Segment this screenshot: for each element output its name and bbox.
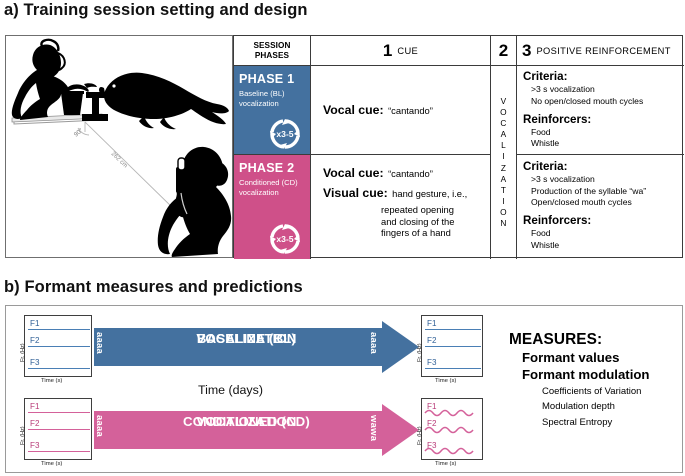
phase-1-subtitle-1: Baseline (BL) bbox=[239, 89, 310, 99]
spectrogram-ylabel: Fr. (Hz) bbox=[20, 343, 26, 362]
formant-line-f3 bbox=[425, 368, 481, 369]
formant-label-f1: F1 bbox=[427, 402, 436, 411]
phase-2-cue-cell: Vocal cue: “cantando” Visual cue: hand g… bbox=[311, 155, 491, 259]
baseline-syllable-end: aaaa bbox=[369, 332, 380, 354]
phase-2-reinforcer-item: Whistle bbox=[531, 240, 684, 251]
phase-2-subtitle-1: Conditioned (CD) bbox=[239, 178, 310, 188]
illustration-svg: 90° 262 cm bbox=[6, 36, 232, 257]
spectrogram-xlabel: Time (s) bbox=[41, 378, 62, 384]
header-phases-line1: SESSION bbox=[253, 41, 290, 50]
phase-2-vocal-cue-value: “cantando” bbox=[388, 168, 433, 179]
phase-2-vocal-cue-label: Vocal cue: bbox=[323, 166, 384, 180]
phase-1-title: PHASE 1 bbox=[239, 72, 310, 86]
formant-line-f2 bbox=[28, 346, 90, 347]
formant-label-f2: F2 bbox=[30, 336, 39, 345]
baseline-arrow-label-wrap: BASELINE (BL) VOCALIZATION bbox=[94, 332, 399, 346]
header-step-1-number: 1 bbox=[383, 42, 392, 59]
conditioned-arrow-label-line2: VOCALIZATION bbox=[94, 415, 399, 429]
conditioned-input-spectrogram: F1 F2 F3 bbox=[24, 398, 92, 460]
formant-label-f1: F1 bbox=[30, 402, 39, 411]
phase-1-repeat-loop: x3-5 bbox=[265, 115, 305, 151]
phase-2-reinforcers-heading: Reinforcers: bbox=[523, 214, 684, 228]
spectrogram-xlabel: Time (s) bbox=[435, 461, 456, 467]
phase-1-criteria-item: No open/closed mouth cycles bbox=[531, 96, 684, 107]
distance-label: 262 cm bbox=[110, 150, 129, 169]
vocalization-vertical-column: VOCALIZATION bbox=[491, 66, 517, 259]
conditioned-arrow-label-wrap: CONDITIONED (CD) VOCALIZATION bbox=[94, 415, 399, 429]
measure-secondary: Modulation depth bbox=[542, 399, 649, 414]
table-header-step-2: 2 bbox=[491, 36, 517, 66]
visual-cue-cont-line: and closing of the bbox=[381, 216, 455, 227]
phase-2-loop-label: x3-5 bbox=[276, 234, 293, 244]
formant-line-f2 bbox=[28, 429, 90, 430]
phase-2-reinforcer-item: Food bbox=[531, 228, 684, 239]
formant-line-f2 bbox=[425, 346, 481, 347]
phase-1-reinforcement-cell: Criteria: >3 s vocalization No open/clos… bbox=[517, 66, 684, 155]
trainer-silhouette bbox=[12, 40, 70, 120]
measure-secondary: Spectral Entropy bbox=[542, 415, 649, 430]
header-reinforcement-label: POSITIVE REINFORCEMENT bbox=[536, 46, 670, 56]
phase-2-visual-cue-value: hand gesture, i.e., bbox=[392, 188, 467, 199]
formant-label-f3: F3 bbox=[30, 441, 39, 450]
vocalization-vertical-text: VOCALIZATION bbox=[500, 96, 507, 228]
phase-2-criteria-item: Production of the syllable “wa” bbox=[531, 186, 684, 197]
angle-label: 90° bbox=[72, 126, 85, 139]
phase-1-reinforcer-item: Food bbox=[531, 127, 684, 138]
baseline-input-spectrogram: F1 F2 F3 bbox=[24, 315, 92, 377]
measurement-annotation bbox=[78, 122, 176, 211]
conditioned-syllable-start: aaaa bbox=[95, 415, 106, 437]
formant-label-f2: F2 bbox=[30, 419, 39, 428]
phase-1-vocal-cue-value: “cantando” bbox=[388, 105, 433, 116]
phase-2-visual-cue-label: Visual cue: bbox=[323, 186, 388, 200]
baseline-syllable-start: aaaa bbox=[95, 332, 106, 354]
section-a-title: a) Training session setting and design bbox=[4, 1, 308, 20]
visual-cue-cont-line: repeated opening bbox=[381, 204, 454, 215]
table-header-session-phases: SESSION PHASES bbox=[234, 36, 311, 66]
seal-silhouette bbox=[99, 73, 229, 130]
spectrogram-xlabel: Time (s) bbox=[41, 461, 62, 467]
formant-label-f2: F2 bbox=[427, 336, 436, 345]
phase-2-criteria-heading: Criteria: bbox=[523, 160, 684, 174]
measures-heading: MEASURES: bbox=[509, 330, 649, 350]
phase-2-reinforcement-cell: Criteria: >3 s vocalization Production o… bbox=[517, 155, 684, 259]
phase-2-subtitle-2: vocalization bbox=[239, 188, 310, 198]
spectrogram-ylabel: Fr. (Hz) bbox=[20, 426, 26, 445]
formant-line-f3 bbox=[28, 368, 90, 369]
phase-2-repeat-loop: x3-5 bbox=[265, 220, 305, 256]
spectrogram-ylabel: Fr. (Hz) bbox=[417, 426, 423, 445]
conditioned-output-spectrogram: F1 F2 F3 bbox=[421, 398, 483, 460]
recordist-silhouette bbox=[158, 147, 231, 257]
formant-line-f1 bbox=[28, 412, 90, 413]
training-setting-illustration: 90° 262 cm bbox=[5, 35, 233, 258]
baseline-arrow-label-line2: VOCALIZATION bbox=[94, 332, 399, 346]
formant-line-f1 bbox=[425, 329, 481, 330]
formant-label-f3: F3 bbox=[30, 358, 39, 367]
phase-2-criteria-item: >3 s vocalization bbox=[531, 174, 684, 185]
phase-1-criteria-item: >3 s vocalization bbox=[531, 84, 684, 95]
formant-measures-panel: F1 F2 F3 Fr. (Hz) Time (s) BASELINE (BL)… bbox=[5, 305, 683, 473]
measure-primary: Formant values bbox=[522, 350, 649, 367]
measure-secondary: Coefficients of Variation bbox=[542, 384, 649, 399]
spectrogram-ylabel: Fr. (Hz) bbox=[417, 343, 423, 362]
spectrogram-xlabel: Time (s) bbox=[435, 378, 456, 384]
phase-1-vocal-cue-label: Vocal cue: bbox=[323, 103, 384, 117]
section-b-title: b) Formant measures and predictions bbox=[4, 278, 303, 297]
header-cue-label: CUE bbox=[397, 46, 418, 56]
phase-1-subtitle-2: vocalization bbox=[239, 99, 310, 109]
time-days-label: Time (days) bbox=[198, 383, 263, 397]
phase-1-cell: PHASE 1 Baseline (BL) vocalization x3-5 bbox=[234, 66, 311, 155]
phase-2-visual-cue-line: Visual cue: hand gesture, i.e., bbox=[323, 184, 490, 202]
phase-2-title: PHASE 2 bbox=[239, 161, 310, 175]
formant-label-f1: F1 bbox=[30, 319, 39, 328]
conditioned-syllable-end: wawa bbox=[369, 415, 380, 441]
phase-2-criteria-item: Open/closed mouth cycles bbox=[531, 197, 684, 208]
phase-2-cell: PHASE 2 Conditioned (CD) vocalization x3… bbox=[234, 155, 311, 259]
phase-1-reinforcer-item: Whistle bbox=[531, 138, 684, 149]
session-design-table: SESSION PHASES 1 CUE 2 3 POSITIVE REINFO… bbox=[233, 35, 683, 258]
formant-label-f1: F1 bbox=[427, 319, 436, 328]
phase-1-reinforcers-heading: Reinforcers: bbox=[523, 113, 684, 127]
header-step-3-number: 3 bbox=[522, 42, 531, 59]
visual-cue-cont-line: fingers of a hand bbox=[381, 227, 451, 238]
formant-label-f2: F2 bbox=[427, 419, 436, 428]
phase-1-criteria-heading: Criteria: bbox=[523, 70, 684, 84]
formant-line-f1 bbox=[28, 329, 90, 330]
formant-label-f3: F3 bbox=[427, 441, 436, 450]
formant-label-f3: F3 bbox=[427, 358, 436, 367]
phase-2-vocal-cue-line: Vocal cue: “cantando” bbox=[323, 164, 490, 182]
measures-list: MEASURES: Formant values Formant modulat… bbox=[509, 330, 649, 430]
table-header-positive-reinforcement: 3 POSITIVE REINFORCEMENT bbox=[517, 36, 684, 66]
measure-primary: Formant modulation bbox=[522, 367, 649, 384]
phase-1-cue-cell: Vocal cue: “cantando” bbox=[311, 66, 491, 155]
header-step-2-number: 2 bbox=[499, 42, 508, 59]
baseline-output-spectrogram: F1 F2 F3 bbox=[421, 315, 483, 377]
phase-1-loop-label: x3-5 bbox=[276, 129, 293, 139]
table-header-cue: 1 CUE bbox=[311, 36, 491, 66]
formant-line-f3 bbox=[28, 451, 90, 452]
phase-2-visual-cue-continuation: repeated opening and closing of the fing… bbox=[381, 204, 490, 239]
header-phases-line2: PHASES bbox=[255, 51, 289, 60]
